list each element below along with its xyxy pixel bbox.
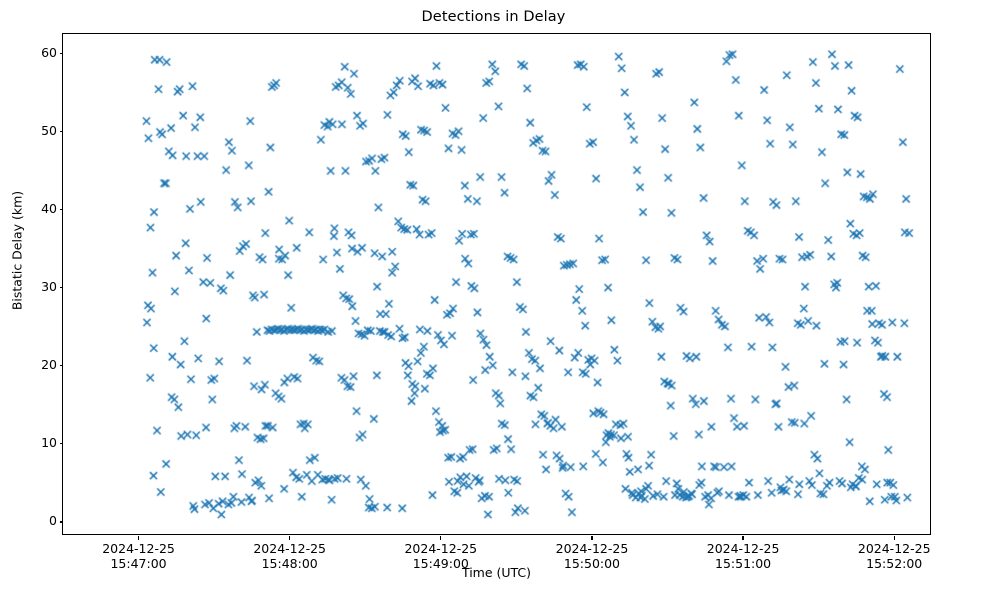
- y-tick-label: 40: [41, 201, 57, 216]
- scatter-points-canvas: [63, 34, 930, 534]
- y-tick-label: 30: [41, 279, 57, 294]
- y-tick-mark: [60, 287, 64, 288]
- y-tick-label: 20: [41, 357, 57, 372]
- y-tick-mark: [60, 131, 64, 132]
- y-tick-label: 10: [41, 435, 57, 450]
- y-tick-mark: [60, 365, 64, 366]
- x-tick-mark: [894, 536, 895, 540]
- y-tick-label: 50: [41, 123, 57, 138]
- x-tick-mark: [742, 536, 743, 540]
- x-tick-mark: [138, 536, 139, 540]
- scatter-plot-figure: Detections in Delay 0102030405060 2024-1…: [0, 0, 987, 590]
- y-tick-mark: [60, 209, 64, 210]
- y-tick-label: 60: [41, 45, 57, 60]
- y-tick-label: 0: [49, 513, 57, 528]
- y-axis-label: Bistatic Delay (km): [10, 61, 25, 441]
- chart-title: Detections in Delay: [0, 9, 987, 25]
- x-tick-mark: [591, 536, 592, 540]
- x-axis-label: Time (UTC): [62, 565, 931, 580]
- x-tick-mark: [289, 536, 290, 540]
- y-tick-mark: [60, 53, 64, 54]
- y-tick-mark: [60, 521, 64, 522]
- plot-axes: 0102030405060 2024-12-2515:47:002024-12-…: [62, 33, 931, 535]
- y-tick-mark: [60, 443, 64, 444]
- x-tick-mark: [440, 536, 441, 540]
